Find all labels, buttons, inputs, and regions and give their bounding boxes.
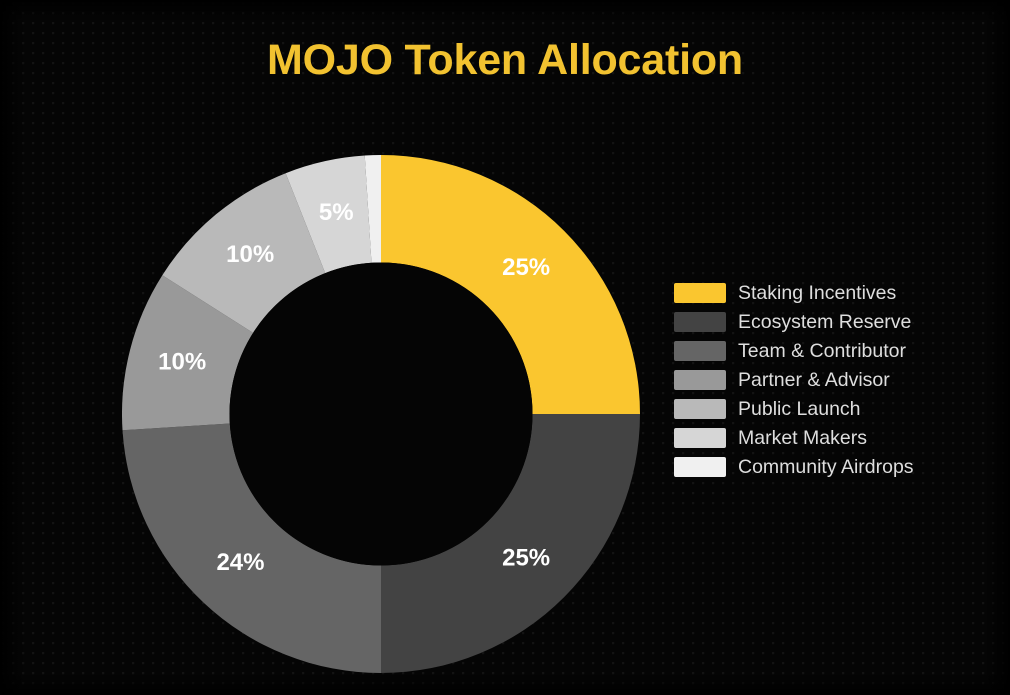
slice-percent-label: 25% <box>502 254 550 281</box>
legend-swatch <box>674 341 726 361</box>
donut-slices <box>122 155 640 673</box>
legend-swatch <box>674 457 726 477</box>
legend-swatch <box>674 428 726 448</box>
slice-percent-label: 5% <box>319 199 354 226</box>
chart-canvas: MOJO Token Allocation 25%25%24%10%10%5% … <box>0 0 1010 695</box>
donut-chart: 25%25%24%10%10%5% <box>122 155 640 673</box>
slice-percent-label: 10% <box>158 348 206 375</box>
legend-item-label: Ecosystem Reserve <box>738 312 911 332</box>
donut-hole <box>229 262 532 565</box>
legend-item[interactable]: Ecosystem Reserve <box>674 312 914 332</box>
legend-item[interactable]: Community Airdrops <box>674 457 914 477</box>
legend-item-label: Staking Incentives <box>738 283 896 303</box>
slice-percent-label: 25% <box>502 544 550 571</box>
legend-item[interactable]: Market Makers <box>674 428 914 448</box>
legend-item[interactable]: Partner & Advisor <box>674 370 914 390</box>
page-title: MOJO Token Allocation <box>0 36 1010 85</box>
slice-percent-label: 10% <box>226 241 274 268</box>
legend-item-label: Partner & Advisor <box>738 370 890 390</box>
legend-swatch <box>674 370 726 390</box>
legend-item[interactable]: Staking Incentives <box>674 283 914 303</box>
legend-item-label: Team & Contributor <box>738 341 906 361</box>
legend-swatch <box>674 312 726 332</box>
legend-item[interactable]: Team & Contributor <box>674 341 914 361</box>
donut-svg: 25%25%24%10%10%5% <box>122 155 640 673</box>
legend-swatch <box>674 399 726 419</box>
legend-item-label: Community Airdrops <box>738 457 914 477</box>
chart-legend: Staking IncentivesEcosystem ReserveTeam … <box>674 283 914 477</box>
slice-percent-label: 24% <box>216 549 264 576</box>
legend-swatch <box>674 283 726 303</box>
legend-item-label: Market Makers <box>738 428 867 448</box>
legend-item[interactable]: Public Launch <box>674 399 914 419</box>
legend-item-label: Public Launch <box>738 399 861 419</box>
